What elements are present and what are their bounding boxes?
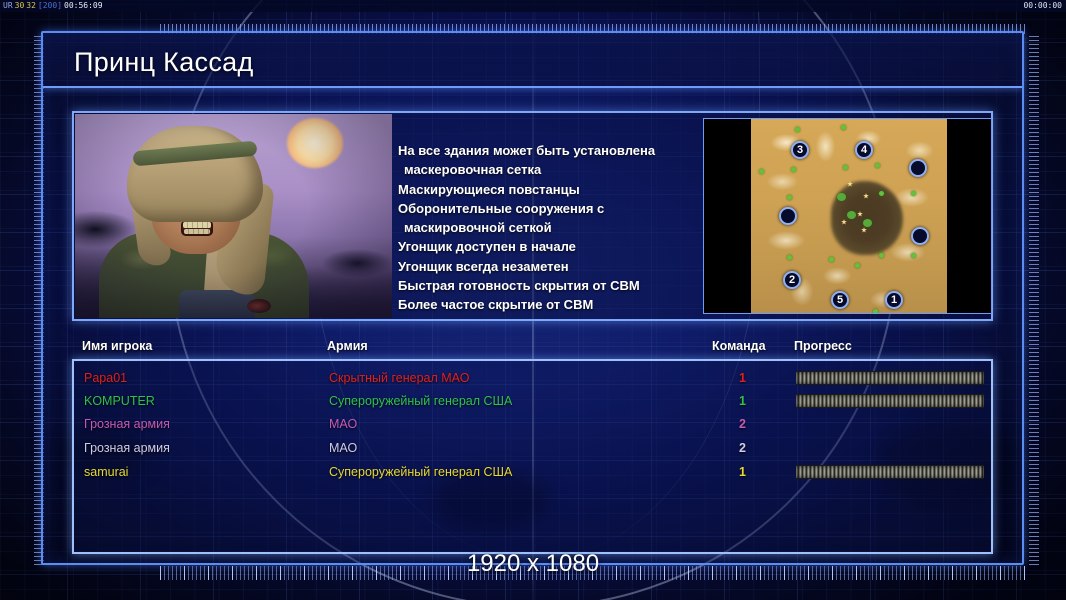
map-start-position[interactable]: 2 bbox=[783, 271, 801, 289]
column-header-army: Армия bbox=[327, 339, 368, 353]
status-seg-2: 32 bbox=[25, 1, 37, 10]
description-line: маскировочной сеткой bbox=[398, 218, 698, 237]
player-army: МАО bbox=[329, 413, 357, 436]
status-seg-0: UR bbox=[2, 1, 14, 10]
map-resource bbox=[911, 253, 916, 258]
player-progress bbox=[796, 465, 984, 479]
player-name: Грозная армия bbox=[84, 413, 170, 436]
description-line: Угонщик доступен в начале bbox=[398, 237, 698, 256]
map-resource bbox=[841, 125, 846, 130]
map-resource bbox=[879, 253, 884, 258]
table-row[interactable]: Грозная армия МАО 2 bbox=[74, 437, 995, 460]
description-line: маскеровочная сетка bbox=[398, 160, 698, 179]
general-portrait bbox=[75, 114, 392, 318]
player-army: Супероружейный генерал США bbox=[329, 461, 512, 484]
map-resource bbox=[879, 191, 884, 196]
map-tree bbox=[837, 193, 846, 201]
ruler-right bbox=[1029, 36, 1039, 566]
map-resource bbox=[911, 191, 916, 196]
map-resource bbox=[795, 127, 800, 132]
column-header-team: Команда bbox=[712, 339, 766, 353]
player-team: 2 bbox=[739, 437, 746, 460]
top-status-bar: UR3032[200]00:56:09 00:00:00 bbox=[0, 0, 1066, 12]
map-resource bbox=[873, 309, 878, 314]
player-army: Скрытный генерал МАО bbox=[329, 367, 469, 390]
map-terrain: 3 4 2 5 1 bbox=[751, 119, 947, 314]
table-row[interactable]: Грозная армия МАО 2 bbox=[74, 413, 995, 436]
player-table: Papa01 Скрытный генерал МАО 1 KOMPUTER С… bbox=[72, 359, 993, 554]
player-team: 1 bbox=[739, 390, 746, 413]
portrait-vignette bbox=[75, 114, 392, 318]
player-name: Грозная армия bbox=[84, 437, 170, 460]
map-resource bbox=[843, 165, 848, 170]
map-start-position[interactable]: 1 bbox=[885, 291, 903, 309]
map-resource bbox=[875, 163, 880, 168]
description-line: Угонщик всегда незаметен bbox=[398, 257, 698, 276]
column-header-progress: Прогресс bbox=[794, 339, 852, 353]
progress-bar-fill bbox=[796, 465, 984, 479]
map-start-position-empty[interactable] bbox=[909, 159, 927, 177]
top-status-left: UR3032[200]00:56:09 bbox=[2, 0, 104, 12]
description-line: Более частое скрытие от СВМ bbox=[398, 295, 698, 314]
map-start-position[interactable]: 4 bbox=[855, 141, 873, 159]
map-resource bbox=[787, 255, 792, 260]
map-preview[interactable]: 3 4 2 5 1 bbox=[703, 118, 992, 314]
map-resource bbox=[791, 167, 796, 172]
map-tree bbox=[863, 219, 872, 227]
progress-bar-fill bbox=[796, 371, 984, 385]
table-row[interactable]: Papa01 Скрытный генерал МАО 1 bbox=[74, 367, 995, 390]
description-line: На все здания может быть установлена bbox=[398, 141, 698, 160]
player-progress bbox=[796, 371, 984, 385]
page-title: Принц Кассад bbox=[74, 47, 254, 78]
column-header-player-name: Имя игрока bbox=[82, 339, 152, 353]
description-line: Быстрая готовность скрытия от СВМ bbox=[398, 276, 698, 295]
status-seg-1: 30 bbox=[14, 1, 26, 10]
table-row[interactable]: KOMPUTER Супероружейный генерал США 1 bbox=[74, 390, 995, 413]
player-team: 1 bbox=[739, 461, 746, 484]
status-seg-3: [200] bbox=[37, 1, 63, 10]
player-team: 1 bbox=[739, 367, 746, 390]
player-progress bbox=[796, 394, 984, 408]
map-resource bbox=[829, 257, 834, 262]
progress-bar-fill bbox=[796, 394, 984, 408]
top-status-clock: 00:00:00 bbox=[1023, 0, 1062, 12]
resolution-label: 1920 x 1080 bbox=[0, 550, 1066, 578]
player-name: KOMPUTER bbox=[84, 390, 155, 413]
map-resource bbox=[855, 263, 860, 268]
player-army: МАО bbox=[329, 437, 357, 460]
map-start-position[interactable]: 3 bbox=[791, 141, 809, 159]
player-team: 2 bbox=[739, 413, 746, 436]
description-line: Оборонительные сооружения с bbox=[398, 199, 698, 218]
player-army: Супероружейный генерал США bbox=[329, 390, 512, 413]
general-description: На все здания может быть установлена мас… bbox=[398, 141, 698, 315]
table-row[interactable]: samurai Супероружейный генерал США 1 bbox=[74, 461, 995, 484]
status-seg-4: 00:56:09 bbox=[63, 1, 104, 10]
player-name: samurai bbox=[84, 461, 128, 484]
map-start-position-empty[interactable] bbox=[911, 227, 929, 245]
player-name: Papa01 bbox=[84, 367, 127, 390]
map-resource bbox=[759, 169, 764, 174]
map-resource bbox=[787, 195, 792, 200]
map-tree bbox=[847, 211, 856, 219]
map-start-position[interactable]: 5 bbox=[831, 291, 849, 309]
description-line: Маскирующиеся повстанцы bbox=[398, 180, 698, 199]
player-table-header: Имя игрока Армия Команда Прогресс bbox=[72, 339, 993, 358]
map-start-position-empty[interactable] bbox=[779, 207, 797, 225]
